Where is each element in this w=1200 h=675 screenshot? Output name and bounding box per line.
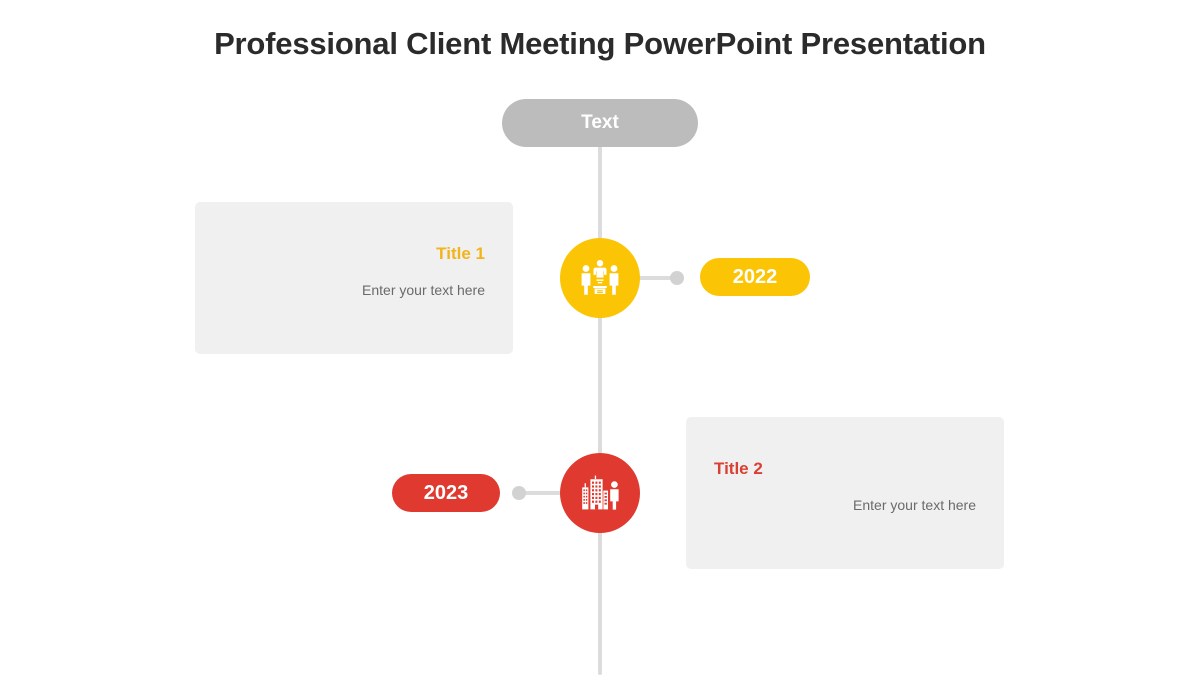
milestone-card-1-title: Title 1 [436,244,485,264]
slide-title: Professional Client Meeting PowerPoint P… [0,26,1200,62]
milestone-marker-2[interactable] [560,453,640,533]
milestone-card-1-body: Enter your text here [362,281,485,299]
milestone-year-label-1: 2022 [733,266,778,289]
milestone-card-2-body: Enter your text here [853,496,976,514]
milestone-card-1[interactable]: Title 1 Enter your text here [195,202,513,354]
timeline-spine [598,122,602,675]
meeting-people-icon [577,255,623,301]
city-buildings-person-icon [577,470,623,516]
milestone-year-pill-1[interactable]: 2022 [700,258,810,296]
timeline-header-pill[interactable]: Text [502,99,698,147]
milestone-card-2-title: Title 2 [714,459,763,479]
milestone-card-2[interactable]: Title 2 Enter your text here [686,417,1004,569]
milestone-marker-1[interactable] [560,238,640,318]
connector-dot-2 [512,486,526,500]
milestone-year-label-2: 2023 [424,482,469,505]
connector-dot-1 [670,271,684,285]
milestone-year-pill-2[interactable]: 2023 [392,474,500,512]
presentation-slide: Professional Client Meeting PowerPoint P… [0,0,1200,675]
timeline-header-pill-label: Text [581,112,619,134]
